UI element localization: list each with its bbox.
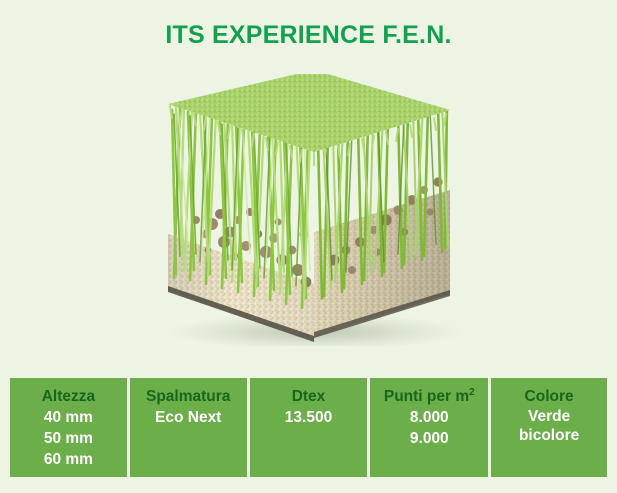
product-spec-card: ITS EXPERIENCE F.E.N. bbox=[0, 0, 617, 493]
spec-header-altezza: Altezza bbox=[42, 387, 95, 407]
spec-header-colore: Colore bbox=[525, 387, 574, 407]
spec-header-punti-per-m2: Punti per m2 bbox=[384, 387, 475, 407]
turf-cross-section-image bbox=[146, 74, 476, 346]
turf-block-illustration bbox=[146, 74, 476, 346]
spec-value-punti-2: 9.000 bbox=[410, 428, 449, 449]
spec-column-altezza: Altezza 40 mm 50 mm 60 mm bbox=[10, 378, 127, 477]
spec-value-colore-1: Verde bbox=[528, 407, 570, 426]
spec-value-altezza-2: 50 mm bbox=[44, 428, 93, 449]
spec-value-altezza-3: 60 mm bbox=[44, 449, 93, 470]
spec-value-spalmatura-1: Eco Next bbox=[155, 407, 221, 428]
spec-header-punti-text: Punti per m bbox=[384, 388, 469, 405]
spec-value-altezza-1: 40 mm bbox=[44, 407, 93, 428]
spec-column-punti-per-m2: Punti per m2 8.000 9.000 bbox=[370, 378, 488, 477]
spec-table: Altezza 40 mm 50 mm 60 mm Spalmatura Eco… bbox=[10, 378, 607, 477]
spec-value-colore-2: bicolore bbox=[519, 426, 579, 445]
spec-column-dtex: Dtex 13.500 bbox=[250, 378, 368, 477]
spec-column-colore: Colore Verde bicolore bbox=[491, 378, 607, 477]
spec-value-punti-1: 8.000 bbox=[410, 407, 449, 428]
spec-header-dtex: Dtex bbox=[292, 387, 326, 407]
page-title: ITS EXPERIENCE F.E.N. bbox=[0, 21, 617, 50]
spec-column-spalmatura: Spalmatura Eco Next bbox=[130, 378, 247, 477]
spec-value-dtex-1: 13.500 bbox=[285, 407, 332, 428]
superscript-two: 2 bbox=[469, 387, 475, 398]
spec-header-spalmatura: Spalmatura bbox=[146, 387, 230, 407]
